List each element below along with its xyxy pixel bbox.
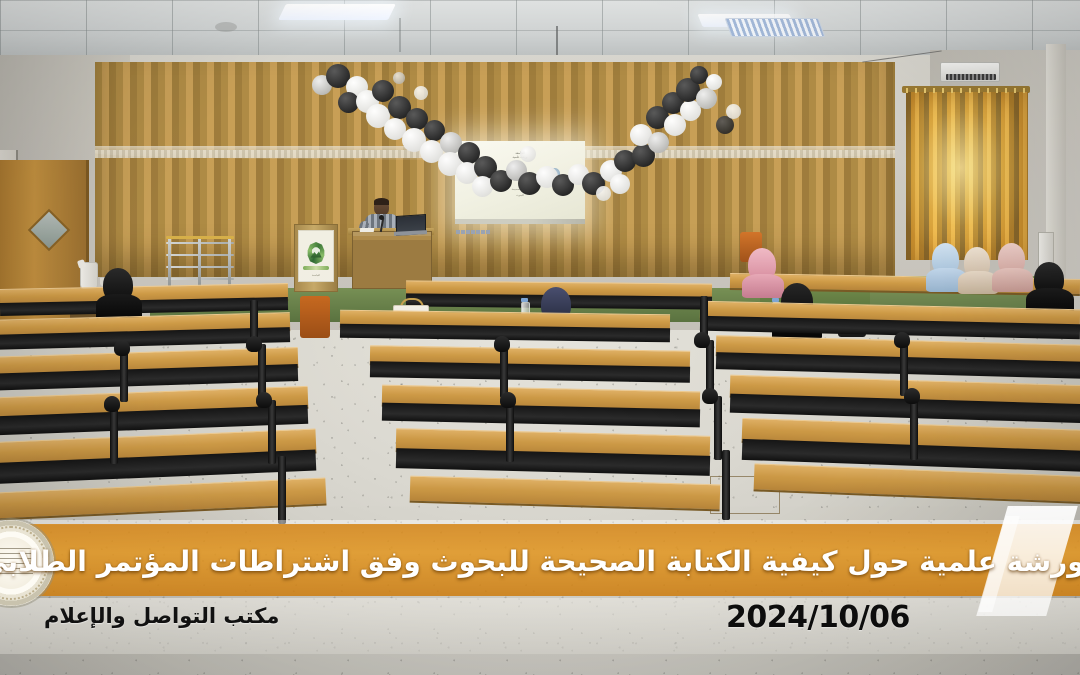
hanging-wire <box>399 18 401 52</box>
ceiling-smoke-detector <box>215 22 237 32</box>
bench-leg <box>910 396 918 460</box>
podium-banner: الجامعة <box>298 230 334 282</box>
bench-leg <box>900 340 908 396</box>
curtain-rings <box>906 88 1028 93</box>
bench-bracket <box>894 332 910 348</box>
ceiling-air-vent <box>725 18 826 37</box>
railing-top-rail <box>166 236 234 239</box>
bench-bracket <box>256 392 272 408</box>
university-logo-text: الجامعة <box>312 274 320 277</box>
bench-bracket <box>494 336 510 352</box>
bench-leg <box>278 456 286 524</box>
bench-bracket <box>104 396 120 412</box>
microphone-icon <box>379 215 384 220</box>
bench-bracket <box>702 388 718 404</box>
bench-leg <box>722 450 730 520</box>
stage-railing <box>166 236 234 288</box>
bench-bracket <box>246 336 262 352</box>
bench-leg <box>110 404 118 464</box>
ceiling-light-1 <box>278 4 396 20</box>
bench-bracket <box>904 388 920 404</box>
presenter-hair <box>374 198 389 205</box>
air-conditioner-vent <box>946 74 996 80</box>
bench-leg <box>500 344 508 398</box>
university-logo-icon <box>305 242 327 264</box>
slide-taskbar <box>455 219 585 224</box>
bench-bracket <box>694 332 710 348</box>
bench-leg <box>120 348 128 402</box>
university-logo-band <box>303 266 329 270</box>
window-sunlight-glow <box>906 92 1028 260</box>
bench-leg <box>506 400 514 462</box>
event-photo: الجامعةورشة علمية الكتابة الصحيحةللبحوث <box>0 0 1080 675</box>
bench-leg <box>714 396 722 460</box>
lecture-hall-photo: الجامعةورشة علمية الكتابة الصحيحةللبحوث <box>0 0 1080 675</box>
orange-chair <box>300 296 330 338</box>
bench-bracket <box>500 392 516 408</box>
water-bottle-cap <box>521 298 528 302</box>
papers-on-desk <box>360 228 375 232</box>
bench-leg <box>268 400 276 464</box>
bench-bracket <box>114 340 130 356</box>
